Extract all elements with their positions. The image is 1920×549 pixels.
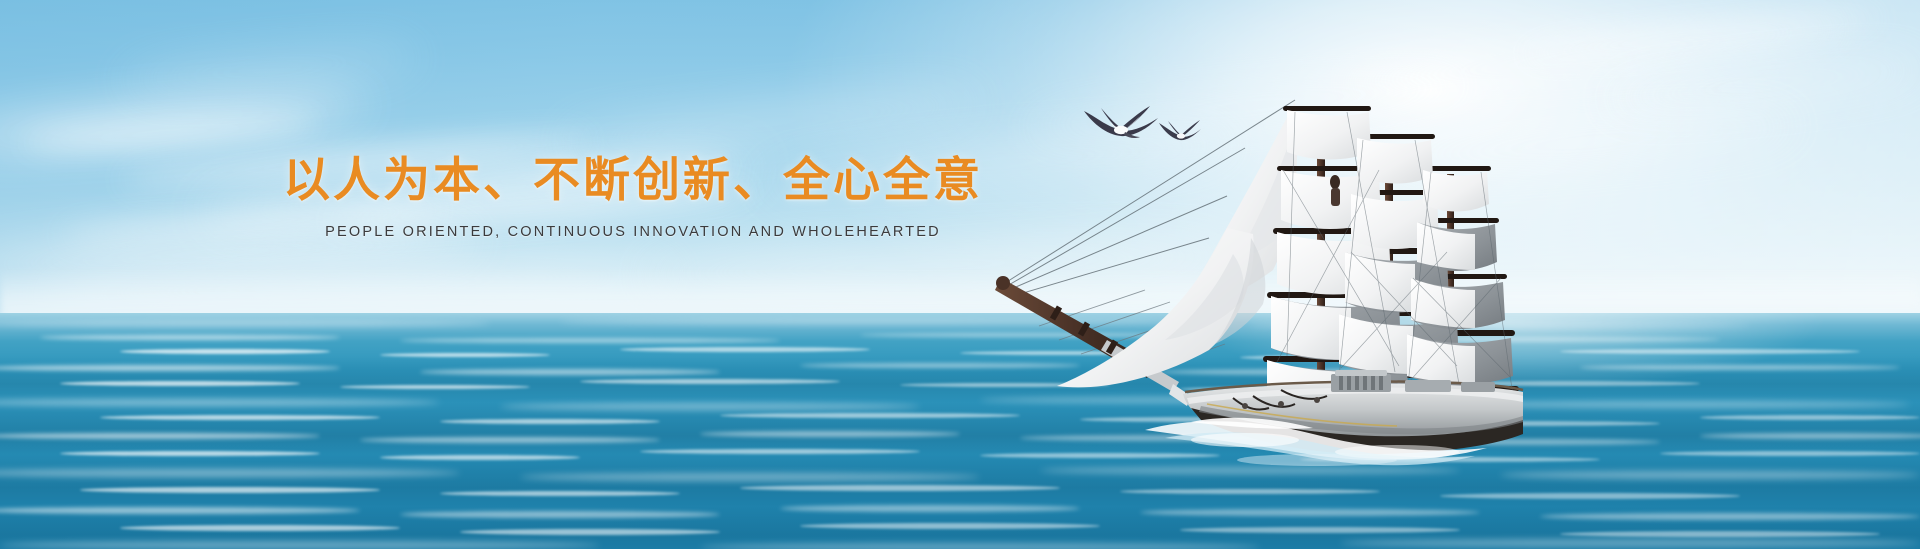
sailing-ship <box>995 78 1525 478</box>
crew-figure <box>1330 175 1340 206</box>
ocean <box>0 313 1920 549</box>
banner-subtitle: PEOPLE ORIENTED, CONTINUOUS INNOVATION A… <box>0 224 1266 240</box>
banner-headline: 以人为本、不断创新、全心全意 <box>0 152 1266 208</box>
hero-banner: 以人为本、不断创新、全心全意 PEOPLE ORIENTED, CONTINUO… <box>0 0 1920 549</box>
banner-text-block: 以人为本、不断创新、全心全意 PEOPLE ORIENTED, CONTINUO… <box>0 152 1266 240</box>
